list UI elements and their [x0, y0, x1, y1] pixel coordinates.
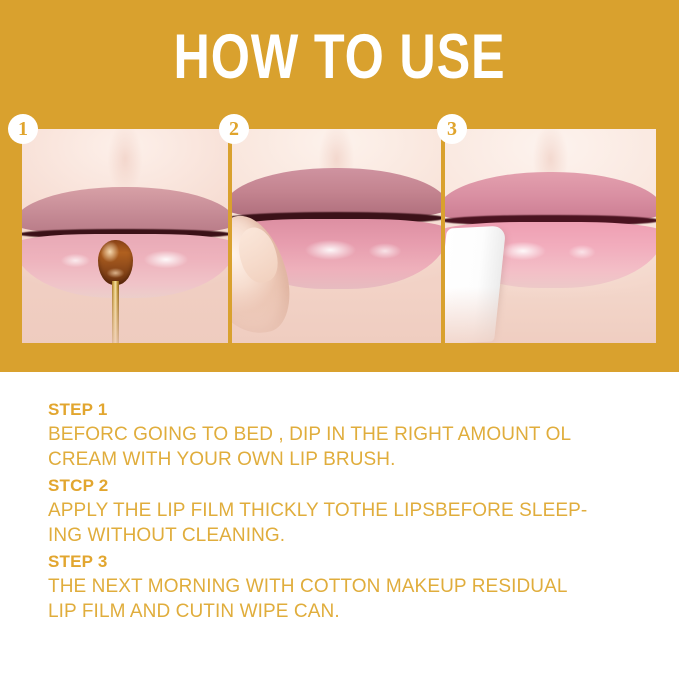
- lip-gloss-highlight: [362, 240, 408, 261]
- chin-shadow: [232, 287, 441, 343]
- step-1-heading: STEP 1: [48, 398, 648, 422]
- how-to-use-infographic: HOW TO USE: [0, 0, 679, 679]
- photo-strip: [22, 129, 656, 343]
- step-badge-3: 3: [437, 114, 467, 144]
- step-1-line-2: CREAM WITH YOUR OWN LIP BRUSH.: [48, 447, 648, 472]
- lip-gloss-highlight: [295, 236, 366, 264]
- chin-shadow: [445, 287, 656, 343]
- step-1-body: BEFORC GOING TO BED , DIP IN THE RIGHT A…: [48, 422, 648, 472]
- step-3-body: THE NEXT MORNING WITH COTTON MAKEUP RESI…: [48, 574, 648, 624]
- step-2-line-1: APPLY THE LIP FILM THICKLY TOTHE LIPSBEF…: [48, 498, 648, 523]
- step-2-heading: STCP 2: [48, 474, 648, 498]
- instructions-list: STEP 1 BEFORC GOING TO BED , DIP IN THE …: [48, 398, 648, 626]
- step-photo-3: [445, 129, 656, 343]
- step-3-heading: STEP 3: [48, 550, 648, 574]
- step-1-line-1: BEFORC GOING TO BED , DIP IN THE RIGHT A…: [48, 422, 648, 447]
- lip-gloss-highlight: [563, 242, 601, 261]
- instruction-step-2: STCP 2 APPLY THE LIP FILM THICKLY TOTHE …: [48, 474, 648, 548]
- step-photo-1: [22, 129, 228, 343]
- step-2-line-2: ING WITHOUT CLEANING.: [48, 523, 648, 548]
- page-title: HOW TO USE: [68, 24, 611, 90]
- chin-shadow: [22, 287, 228, 343]
- step-badge-2: 2: [219, 114, 249, 144]
- step-2-body: APPLY THE LIP FILM THICKLY TOTHE LIPSBEF…: [48, 498, 648, 548]
- instruction-step-1: STEP 1 BEFORC GOING TO BED , DIP IN THE …: [48, 398, 648, 472]
- step-badge-1: 1: [8, 114, 38, 144]
- step-3-line-1: THE NEXT MORNING WITH COTTON MAKEUP RESI…: [48, 574, 648, 599]
- instruction-step-3: STEP 3 THE NEXT MORNING WITH COTTON MAKE…: [48, 550, 648, 624]
- step-photo-2: [232, 129, 441, 343]
- step-3-line-2: LIP FILM AND CUTIN WIPE CAN.: [48, 599, 648, 624]
